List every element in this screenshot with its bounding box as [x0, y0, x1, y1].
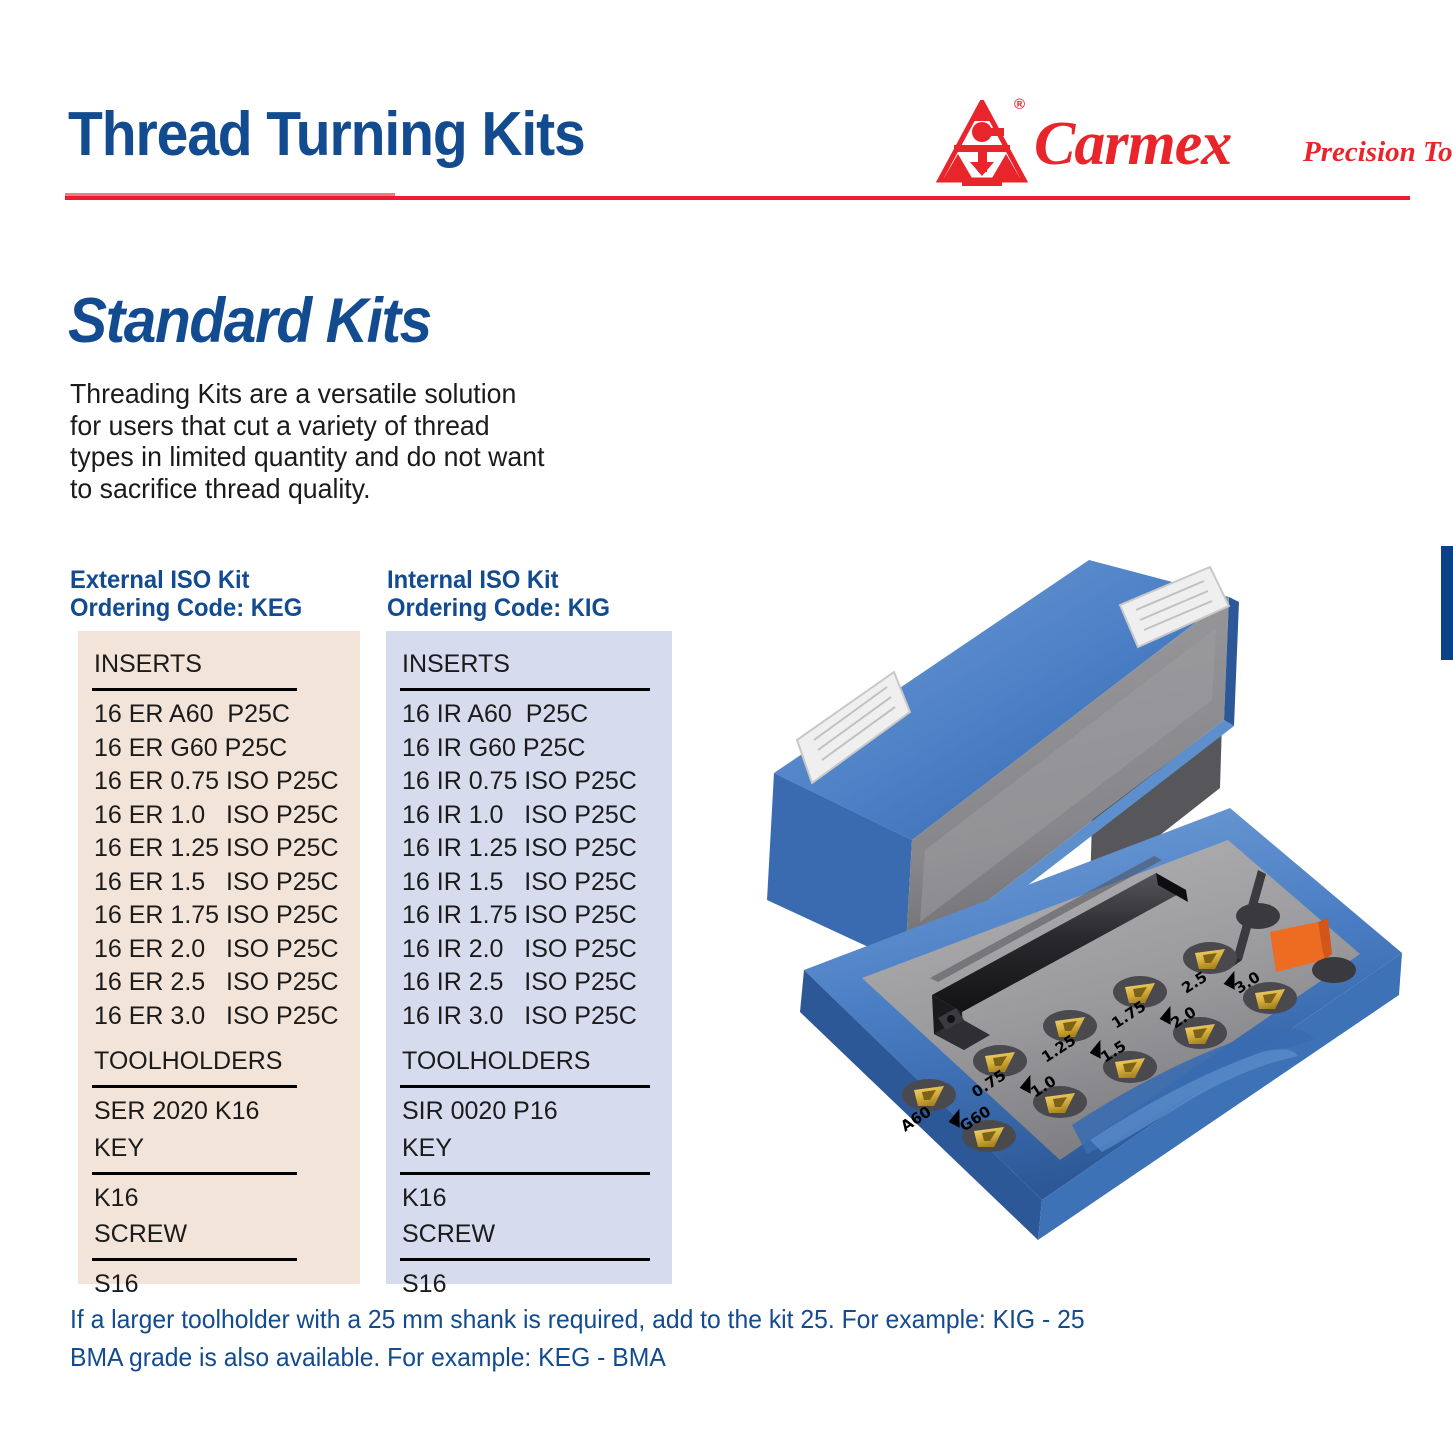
header-divider — [65, 196, 1410, 200]
list-item: SIR 0020 P16 — [400, 1095, 658, 1129]
list-item: 16 ER G60 P25C — [92, 732, 346, 766]
group-label-screw: SCREW — [92, 1219, 346, 1249]
kit-heading-external: External ISO Kit Ordering Code: KEG — [70, 566, 302, 622]
intro-line: types in limited quantity and do not wan… — [70, 441, 613, 473]
header-divider-accent — [65, 193, 395, 196]
list-item: 16 ER 1.5 ISO P25C — [92, 866, 346, 900]
list-item: 16 IR A60 P25C — [400, 698, 658, 732]
list-item: 16 ER 1.25 ISO P25C — [92, 832, 346, 866]
list-item: SER 2020 K16 — [92, 1095, 346, 1129]
list-item: 16 ER A60 P25C — [92, 698, 346, 732]
brand-wordmark: Carmex — [1034, 113, 1231, 175]
group-divider — [92, 1172, 297, 1175]
group-divider — [400, 1172, 650, 1175]
group-divider — [400, 1085, 650, 1088]
group-label-toolholders: TOOLHOLDERS — [92, 1046, 346, 1076]
group-label-inserts: INSERTS — [92, 649, 346, 679]
group-divider — [400, 1258, 650, 1261]
footer-note-line: If a larger toolholder with a 25 mm shan… — [70, 1300, 1210, 1338]
group-divider — [400, 688, 650, 691]
kit-heading-line1: Internal ISO Kit — [387, 566, 610, 594]
kit-heading-line1: External ISO Kit — [70, 566, 302, 594]
list-item: 16 IR 3.0 ISO P25C — [400, 1000, 658, 1034]
kit-panel-external: INSERTS 16 ER A60 P25C 16 ER G60 P25C 16… — [78, 631, 360, 1284]
list-item: 16 IR 2.0 ISO P25C — [400, 933, 658, 967]
group-label-toolholders: TOOLHOLDERS — [400, 1046, 658, 1076]
group-divider — [92, 688, 297, 691]
page-title: Thread Turning Kits — [68, 104, 585, 166]
list-item: K16 — [400, 1182, 658, 1216]
section-title: Standard Kits — [68, 290, 431, 353]
list-item: 16 ER 2.5 ISO P25C — [92, 966, 346, 1000]
list-item: S16 — [400, 1268, 658, 1302]
list-item: 16 ER 2.0 ISO P25C — [92, 933, 346, 967]
list-item: K16 — [92, 1182, 346, 1216]
list-item: 16 IR 1.5 ISO P25C — [400, 866, 658, 900]
group-divider — [92, 1085, 297, 1088]
kit-panel-internal: INSERTS 16 IR A60 P25C 16 IR G60 P25C 16… — [386, 631, 672, 1284]
group-label-inserts: INSERTS — [400, 649, 658, 679]
intro-paragraph: Threading Kits are a versatile solution … — [70, 378, 613, 504]
group-label-key: KEY — [400, 1133, 658, 1163]
intro-line: Threading Kits are a versatile solution — [70, 378, 613, 410]
page-edge-tab — [1441, 546, 1453, 660]
list-item: 16 IR 2.5 ISO P25C — [400, 966, 658, 1000]
registered-mark: ® — [1014, 96, 1025, 113]
group-divider — [92, 1258, 297, 1261]
list-item: S16 — [92, 1268, 346, 1302]
intro-line: to sacrifice thread quality. — [70, 473, 613, 505]
list-item: 16 IR 1.75 ISO P25C — [400, 899, 658, 933]
product-photo-kit-case: A60 G60 0.75 1.0 1.25 1.5 1.75 2.0 2.5 3… — [742, 540, 1442, 1260]
list-item: 16 IR 1.0 ISO P25C — [400, 799, 658, 833]
kit-heading-internal: Internal ISO Kit Ordering Code: KIG — [387, 566, 610, 622]
group-label-screw: SCREW — [400, 1219, 658, 1249]
footer-note: If a larger toolholder with a 25 mm shan… — [70, 1300, 1210, 1376]
brand-tagline: Precision Tools Ltd. — [1303, 138, 1453, 167]
carmex-logo: ® Carmex Precision Tools Ltd. — [936, 96, 1436, 192]
list-item: 16 IR 1.25 ISO P25C — [400, 832, 658, 866]
list-item: 16 ER 1.75 ISO P25C — [92, 899, 346, 933]
catalog-page: Thread Turning Kits ® Carmex Precision T… — [0, 0, 1453, 1453]
list-item: 16 ER 3.0 ISO P25C — [92, 1000, 346, 1034]
kit-heading-line2: Ordering Code: KEG — [70, 594, 302, 622]
list-item: 16 ER 1.0 ISO P25C — [92, 799, 346, 833]
group-label-key: KEY — [92, 1133, 346, 1163]
list-item: 16 IR 0.75 ISO P25C — [400, 765, 658, 799]
kit-heading-line2: Ordering Code: KIG — [387, 594, 610, 622]
list-item: 16 IR G60 P25C — [400, 732, 658, 766]
footer-note-line: BMA grade is also available. For example… — [70, 1338, 1210, 1376]
intro-line: for users that cut a variety of thread — [70, 410, 613, 442]
list-item: 16 ER 0.75 ISO P25C — [92, 765, 346, 799]
